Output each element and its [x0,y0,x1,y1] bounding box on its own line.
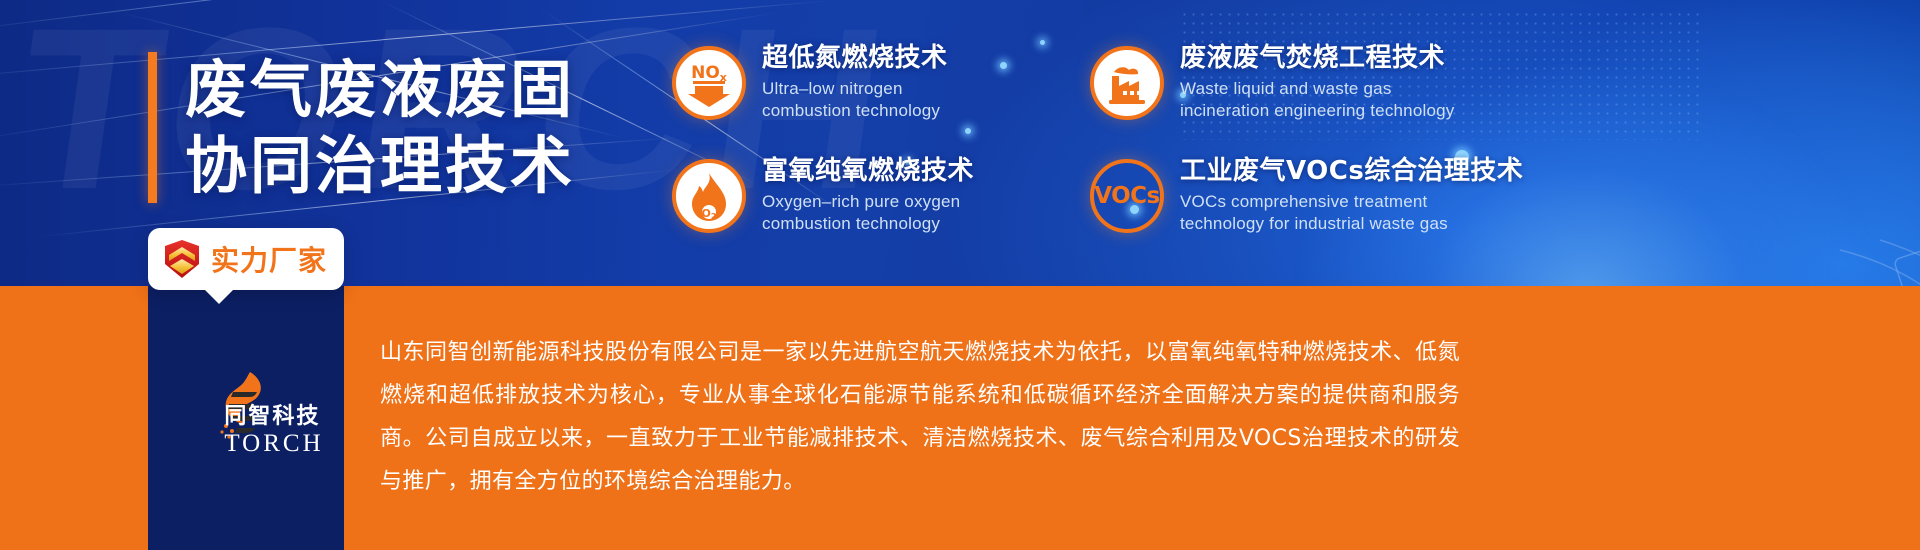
title-accent-bar [148,52,157,203]
feature-item-vocs[interactable]: VOCs 工业废气VOCs综合治理技术 VOCs comprehensive t… [1090,143,1902,248]
feature-subtitle-line1: Waste liquid and waste gas [1180,78,1454,100]
logo-chinese-name: 同智科技 [224,406,320,428]
company-description: 山东同智创新能源科技股份有限公司是一家以先进航空航天燃烧技术为依托，以富氧纯氧特… [380,286,1870,550]
strength-manufacturer-badge[interactable]: 实力厂家 [148,228,344,290]
nox-reduction-icon: NOx [672,46,746,120]
banner-root: TORCH 废气废液废固 [0,0,1920,550]
title-line-1: 废气废液废固 [185,52,575,128]
feature-subtitle-line1: VOCs comprehensive treatment [1180,191,1523,213]
flame-oxygen-icon: O2 [672,159,746,233]
vocs-badge-icon: VOCs [1090,159,1164,233]
feature-item-nox[interactable]: NOx 超低氮燃烧技术 Ultra–low nitrogen combustio… [672,30,1072,135]
company-logo-panel[interactable]: 同智科技 TORCH [148,286,344,550]
feature-title: 废液废气焚烧工程技术 [1180,43,1454,75]
title-line-2: 协同治理技术 [185,128,575,204]
feature-item-incineration[interactable]: 废液废气焚烧工程技术 Waste liquid and waste gas in… [1090,30,1902,135]
vocs-icon-label: VOCs [1094,183,1160,209]
description-text: 山东同智创新能源科技股份有限公司是一家以先进航空航天燃烧技术为依托，以富氧纯氧特… [380,332,1460,504]
feature-subtitle-line2: incineration engineering technology [1180,100,1454,122]
feature-title: 超低氮燃烧技术 [762,43,948,75]
feature-list: NOx 超低氮燃烧技术 Ultra–low nitrogen combustio… [672,30,1902,248]
feature-title: 富氧纯氧燃烧技术 [762,156,974,188]
feature-subtitle-line1: Oxygen–rich pure oxygen [762,191,974,213]
feature-subtitle: Oxygen–rich pure oxygen combustion techn… [762,191,974,235]
banner-title: 废气废液废固 协同治理技术 [148,52,575,203]
feature-subtitle-line2: combustion technology [762,213,974,235]
logo-english-name: TORCH [224,430,323,458]
badge-label: 实力厂家 [211,239,327,279]
feature-subtitle: Ultra–low nitrogen combustion technology [762,78,948,122]
feature-subtitle-line2: technology for industrial waste gas [1180,213,1523,235]
feature-subtitle: Waste liquid and waste gas incineration … [1180,78,1454,122]
shield-icon [162,238,202,280]
feature-subtitle: VOCs comprehensive treatment technology … [1180,191,1523,235]
feature-item-oxygen[interactable]: O2 富氧纯氧燃烧技术 Oxygen–rich pure oxygen comb… [672,143,1072,248]
feature-subtitle-line1: Ultra–low nitrogen [762,78,948,100]
feature-subtitle-line2: combustion technology [762,100,948,122]
svg-text:NOx: NOx [691,63,727,84]
factory-incineration-icon [1090,46,1164,120]
feature-title: 工业废气VOCs综合治理技术 [1180,156,1523,188]
